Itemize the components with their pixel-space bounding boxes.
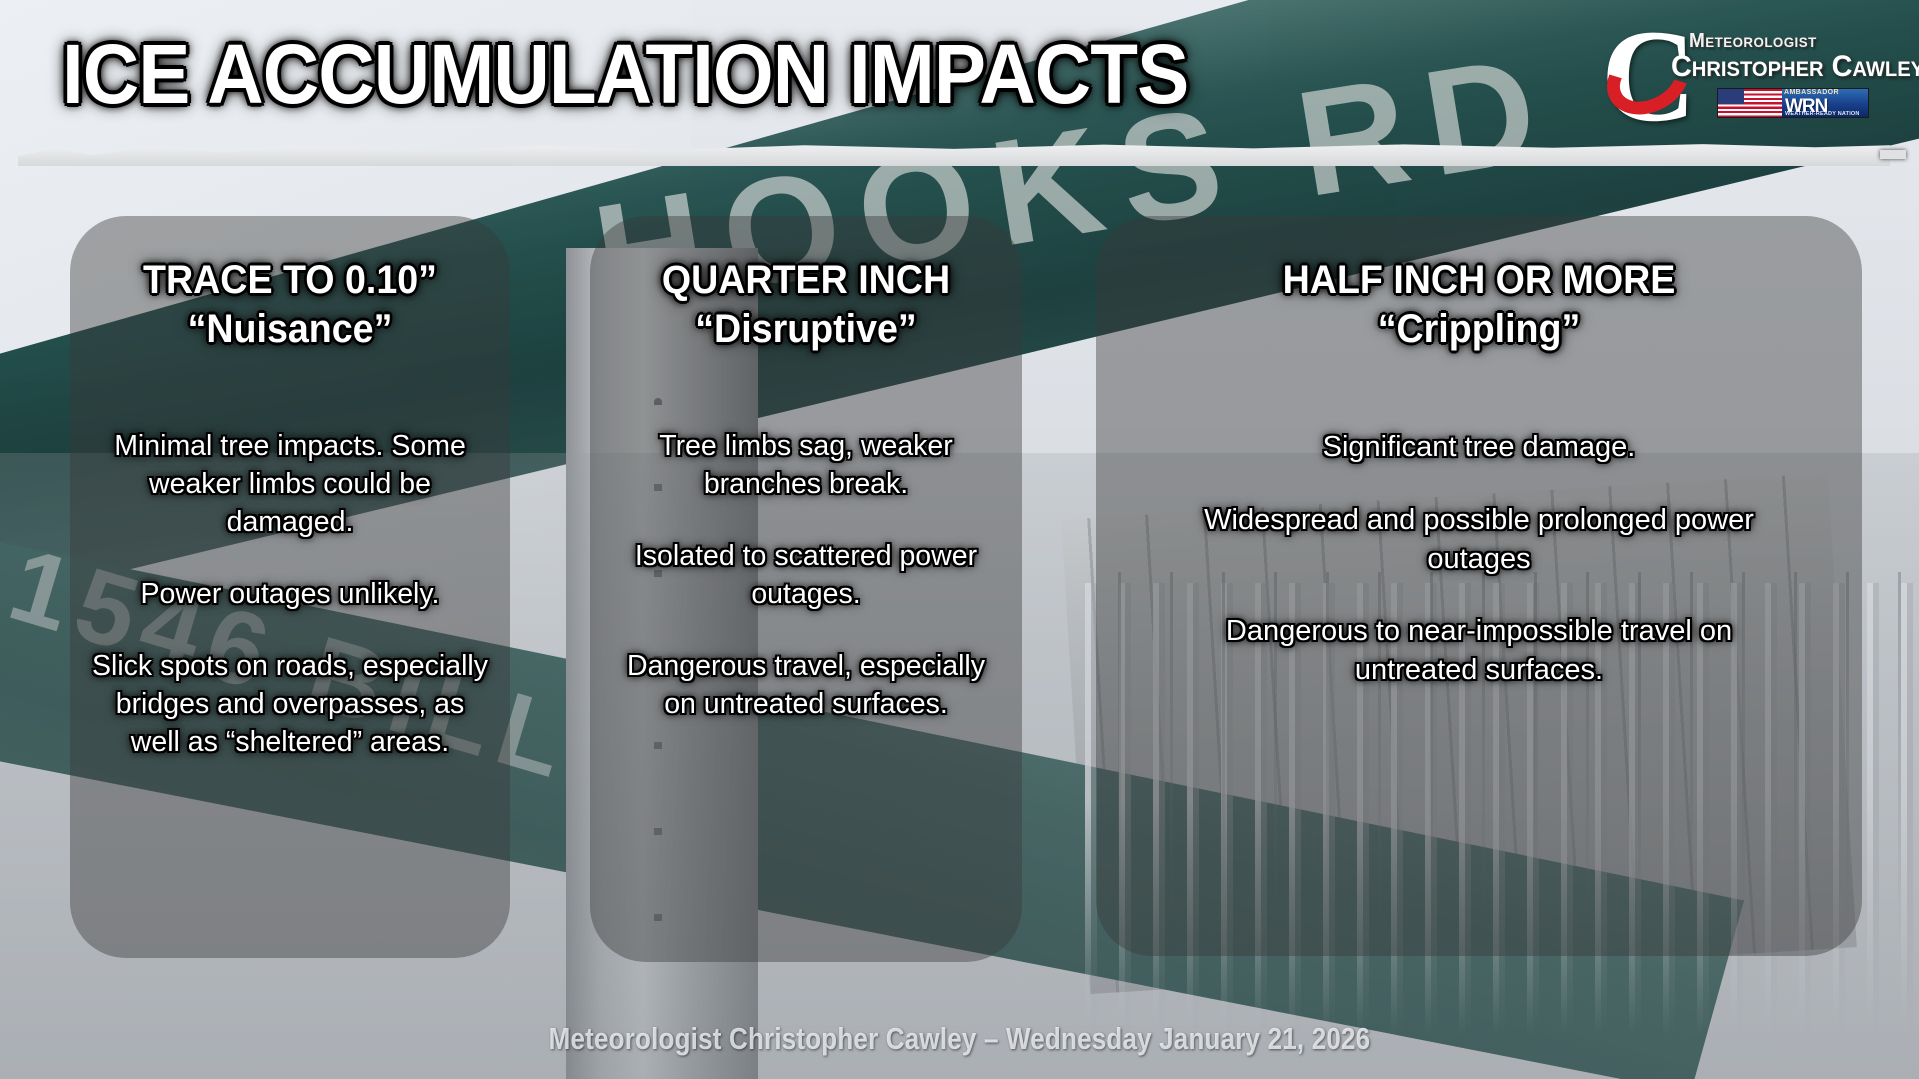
wrn-ambassador-badge: AMBASSADOR WRN WEATHER-READY NATION <box>1717 88 1869 118</box>
wrn-ambassador-label: AMBASSADOR <box>1784 89 1870 96</box>
impact-item: Power outages unlikely. <box>90 576 490 614</box>
station-logo: C Meteorologist Christopher Cawley AMBAS… <box>1601 12 1901 122</box>
impact-panel-trace: TRACE TO 0.10” “Nuisance” Minimal tree i… <box>70 216 510 958</box>
impact-item: Significant tree damage. <box>1170 428 1788 467</box>
panel-tier-label: HALF INCH OR MORE <box>1132 258 1826 303</box>
panel-tier-label: QUARTER INCH <box>616 258 996 303</box>
panel-heading: QUARTER INCH “Disruptive” <box>616 258 996 352</box>
impact-item: Dangerous to near-impossible travel on u… <box>1170 612 1788 689</box>
panel-tier-label: TRACE TO 0.10” <box>96 258 483 303</box>
panel-heading: TRACE TO 0.10” “Nuisance” <box>96 258 483 352</box>
wrn-tagline: WEATHER-READY NATION <box>1785 111 1860 117</box>
impact-item: Isolated to scattered power outages. <box>610 538 1002 614</box>
impact-item: Dangerous travel, especially on untreate… <box>610 648 1002 724</box>
weather-graphic: HOOKS RD SR 1546 BILL ICE ACCUMULATION I… <box>0 0 1919 1079</box>
page-title: ICE ACCUMULATION IMPACTS <box>62 30 1188 119</box>
panel-impact-list: Significant tree damage. Widespread and … <box>1110 428 1848 689</box>
us-flag-icon <box>1718 89 1782 117</box>
panel-impact-list: Minimal tree impacts. Some weaker limbs … <box>84 428 496 761</box>
wrn-logo: AMBASSADOR WRN WEATHER-READY NATION <box>1782 89 1868 117</box>
title-divider-tail <box>1880 150 1906 159</box>
footer-credit: Meteorologist Christopher Cawley – Wedne… <box>154 1021 1766 1057</box>
panel-nickname-label: “Crippling” <box>1132 307 1826 352</box>
impact-item: Widespread and possible prolonged power … <box>1170 501 1788 578</box>
logo-line-name: Christopher Cawley <box>1671 50 1919 84</box>
impact-panel-quarter: QUARTER INCH “Disruptive” Tree limbs sag… <box>590 216 1022 962</box>
impact-item: Slick spots on roads, especially bridges… <box>90 648 490 762</box>
impact-item: Tree limbs sag, weaker branches break. <box>610 428 1002 504</box>
impact-item: Minimal tree impacts. Some weaker limbs … <box>90 428 490 542</box>
panel-nickname-label: “Nuisance” <box>96 307 483 352</box>
panel-heading: HALF INCH OR MORE “Crippling” <box>1132 258 1826 352</box>
impact-panel-half: HALF INCH OR MORE “Crippling” Significan… <box>1096 216 1862 956</box>
panel-nickname-label: “Disruptive” <box>616 307 996 352</box>
panel-impact-list: Tree limbs sag, weaker branches break. I… <box>604 428 1008 723</box>
